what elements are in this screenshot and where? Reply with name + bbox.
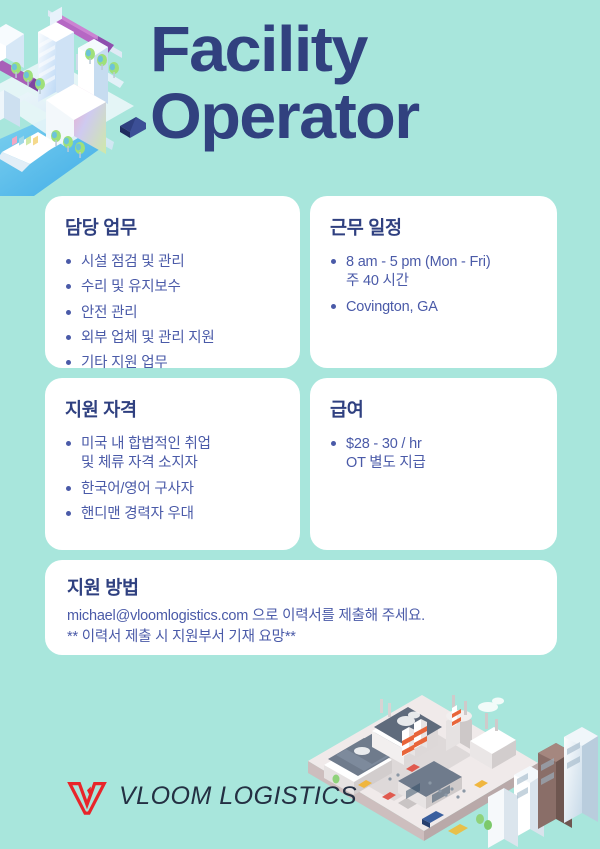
title-line-operator: Operator <box>150 85 600 148</box>
card-responsibilities: 담당 업무 시설 점검 및 관리 수리 및 유지보수 안전 관리 외부 업체 및… <box>45 196 300 368</box>
card-row-1: 담당 업무 시설 점검 및 관리 수리 및 유지보수 안전 관리 외부 업체 및… <box>45 196 557 368</box>
bullet-dot <box>66 335 71 340</box>
list-item-text: 수리 및 유지보수 <box>81 279 181 295</box>
list-item: 시설 점검 및 관리 <box>65 253 280 272</box>
list-item-subtext: 주 40 시간 <box>346 272 537 291</box>
list-item: 안전 관리 <box>65 304 280 323</box>
title-line-facility: Facility <box>150 18 600 81</box>
bullet-dot <box>331 304 336 309</box>
card-schedule: 근무 일정 8 am - 5 pm (Mon - Fri) 주 40 시간 Co… <box>310 196 557 368</box>
card-apply: 지원 방법 michael@vloomlogistics.com 으로 이력서를… <box>45 560 557 655</box>
card-heading-responsibilities: 담당 업무 <box>65 214 280 240</box>
card-salary: 급여 $28 - 30 / hr OT 별도 지급 <box>310 378 557 550</box>
bullet-dot <box>331 441 336 446</box>
bullet-dot <box>331 259 336 264</box>
bullet-dot <box>66 310 71 315</box>
bullet-dot <box>66 284 71 289</box>
list-item: 8 am - 5 pm (Mon - Fri) 주 40 시간 <box>330 253 537 292</box>
responsibilities-list: 시설 점검 및 관리 수리 및 유지보수 안전 관리 외부 업체 및 관리 지원… <box>65 253 280 373</box>
list-item-text: 안전 관리 <box>81 305 137 321</box>
list-item-text: 8 am - 5 pm (Mon - Fri) <box>346 254 490 270</box>
card-heading-apply: 지원 방법 <box>67 574 535 600</box>
card-heading-schedule: 근무 일정 <box>330 214 537 240</box>
card-row-2: 지원 자격 미국 내 합법적인 취업 및 체류 자격 소지자 한국어/영어 구사… <box>45 378 557 550</box>
list-item-text: 외부 업체 및 관리 지원 <box>81 330 215 346</box>
list-item-text: 시설 점검 및 관리 <box>81 254 184 270</box>
content-cards: 담당 업무 시설 점검 및 관리 수리 및 유지보수 안전 관리 외부 업체 및… <box>45 196 557 665</box>
list-item: 한국어/영어 구사자 <box>65 480 280 499</box>
bullet-dot <box>66 486 71 491</box>
list-item: 미국 내 합법적인 취업 및 체류 자격 소지자 <box>65 435 280 474</box>
list-item: $28 - 30 / hr OT 별도 지급 <box>330 435 537 474</box>
list-item: Covington, GA <box>330 298 537 317</box>
list-item: 외부 업체 및 관리 지원 <box>65 329 280 348</box>
bullet-dot <box>66 441 71 446</box>
industrial-illustration <box>302 679 600 849</box>
list-item-subtext: OT 별도 지급 <box>346 454 537 473</box>
list-item: 기타 지원 업무 <box>65 354 280 373</box>
list-item-subtext: 및 체류 자격 소지자 <box>81 454 280 473</box>
card-row-3: 지원 방법 michael@vloomlogistics.com 으로 이력서를… <box>45 560 557 655</box>
company-name: VLOOM LOGISTICS <box>119 782 357 811</box>
salary-list: $28 - 30 / hr OT 별도 지급 <box>330 435 537 474</box>
list-item-text: Covington, GA <box>346 299 438 315</box>
card-heading-qualifications: 지원 자격 <box>65 396 280 422</box>
list-item-text: 한국어/영어 구사자 <box>81 481 194 497</box>
list-item: 핸디맨 경력자 우대 <box>65 505 280 524</box>
list-item: 수리 및 유지보수 <box>65 278 280 297</box>
company-logo: VLOOM LOGISTICS <box>66 775 357 817</box>
card-heading-salary: 급여 <box>330 396 537 422</box>
page-title: Facility Operator <box>150 18 590 147</box>
qualifications-list: 미국 내 합법적인 취업 및 체류 자격 소지자 한국어/영어 구사자 핸디맨 … <box>65 435 280 524</box>
card-qualifications: 지원 자격 미국 내 합법적인 취업 및 체류 자격 소지자 한국어/영어 구사… <box>45 378 300 550</box>
bullet-dot <box>66 511 71 516</box>
apply-instructions-line2: ** 이력서 제출 시 지원부서 기재 요망** <box>67 627 535 648</box>
list-item-text: 미국 내 합법적인 취업 <box>81 436 211 452</box>
bullet-dot <box>66 360 71 365</box>
apply-instructions-line1: michael@vloomlogistics.com 으로 이력서를 제출해 주… <box>67 606 535 627</box>
flyer-page: Facility Operator 담당 업무 시설 점검 및 관리 수리 및 … <box>0 0 600 849</box>
list-item-text: 핸디맨 경력자 우대 <box>81 506 194 522</box>
list-item-text: $28 - 30 / hr <box>346 436 422 452</box>
bullet-dot <box>66 259 71 264</box>
schedule-list: 8 am - 5 pm (Mon - Fri) 주 40 시간 Covingto… <box>330 253 537 317</box>
list-item-text: 기타 지원 업무 <box>81 355 168 371</box>
vloom-v-icon <box>66 775 108 817</box>
city-illustration <box>0 0 174 206</box>
